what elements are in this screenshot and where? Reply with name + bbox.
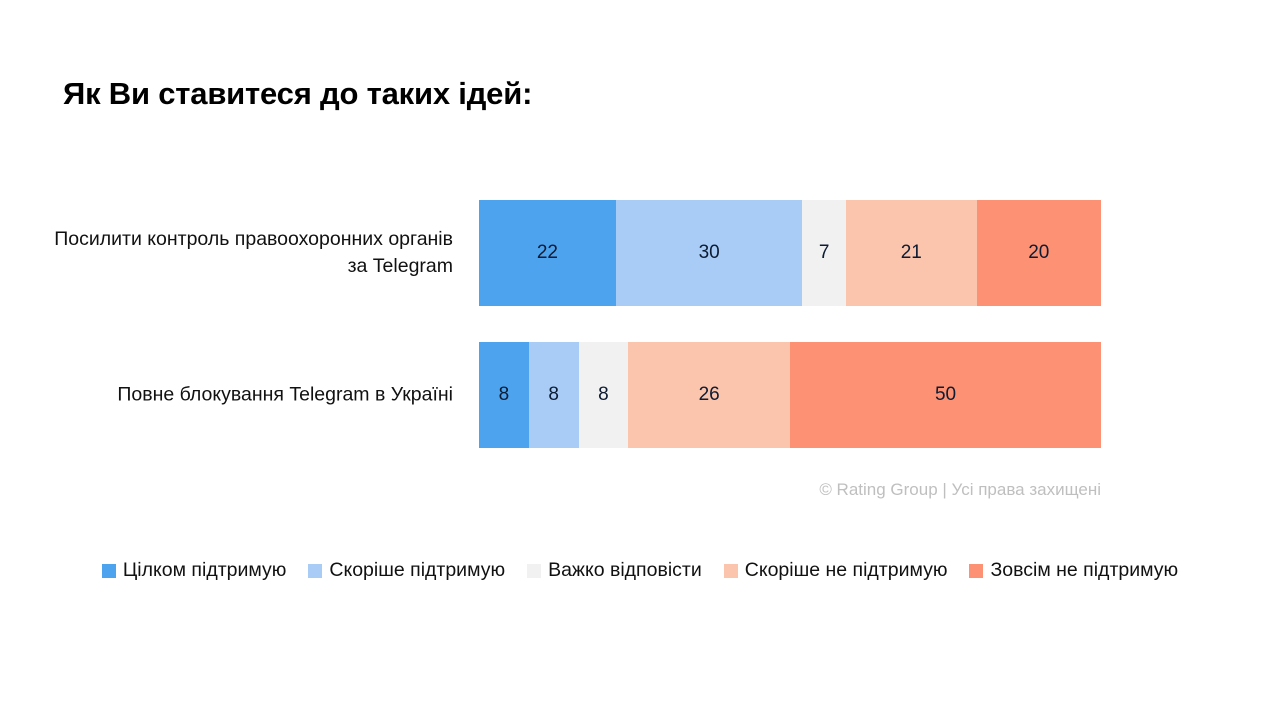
legend-item[interactable]: Цілком підтримую (102, 559, 287, 582)
category-label: Повне блокування Telegram в Україні (53, 382, 453, 409)
bar-segment[interactable]: 21 (846, 200, 977, 306)
legend-item-label: Скоріше підтримую (329, 559, 505, 582)
legend-item-label: Зовсім не підтримую (990, 559, 1178, 582)
legend-item[interactable]: Зовсім не підтримую (969, 559, 1178, 582)
bar-segment[interactable]: 8 (579, 342, 629, 448)
bar-segment[interactable]: 50 (790, 342, 1101, 448)
bar-segment-value: 22 (537, 242, 558, 264)
bar-segment-value: 7 (819, 242, 830, 264)
legend-item[interactable]: Скоріше не підтримую (724, 559, 948, 582)
bar-row: Повне блокування Telegram в Україні 8 8 … (0, 342, 1280, 448)
bar-segment[interactable]: 7 (802, 200, 846, 306)
bar-segment-value: 26 (699, 384, 720, 406)
bar-segment[interactable]: 8 (529, 342, 579, 448)
plot-area: Посилити контроль правоохоронних органів… (0, 200, 1280, 484)
legend-swatch-icon (527, 564, 541, 578)
legend-item[interactable]: Важко відповісти (527, 559, 702, 582)
category-label: Посилити контроль правоохоронних органів… (53, 226, 453, 280)
legend-swatch-icon (102, 564, 116, 578)
legend-swatch-icon (724, 564, 738, 578)
bar-segment-value: 21 (901, 242, 922, 264)
legend-swatch-icon (969, 564, 983, 578)
stacked-bar: 22 30 7 21 20 (479, 200, 1101, 306)
bar-segment-value: 8 (499, 384, 510, 406)
legend-item-label: Скоріше не підтримую (745, 559, 948, 582)
bar-segment-value: 20 (1028, 242, 1049, 264)
bar-row: Посилити контроль правоохоронних органів… (0, 200, 1280, 306)
bar-segment[interactable]: 8 (479, 342, 529, 448)
legend-item-label: Цілком підтримую (123, 559, 287, 582)
legend-item[interactable]: Скоріше підтримую (308, 559, 505, 582)
bar-segment-value: 8 (548, 384, 559, 406)
bar-segment[interactable]: 22 (479, 200, 616, 306)
bar-segment[interactable]: 20 (977, 200, 1101, 306)
bar-segment-value: 8 (598, 384, 609, 406)
stacked-bar: 8 8 8 26 50 (479, 342, 1101, 448)
bar-segment-value: 30 (699, 242, 720, 264)
chart-legend: Цілком підтримую Скоріше підтримую Важко… (0, 559, 1280, 582)
chart-title: Як Ви ставитеся до таких ідей: (63, 76, 532, 112)
bar-segment[interactable]: 26 (628, 342, 790, 448)
bar-segment-value: 50 (935, 384, 956, 406)
bar-segment[interactable]: 30 (616, 200, 803, 306)
copyright-notice: © Rating Group | Усі права захищені (0, 480, 1101, 500)
legend-item-label: Важко відповісти (548, 559, 702, 582)
legend-swatch-icon (308, 564, 322, 578)
